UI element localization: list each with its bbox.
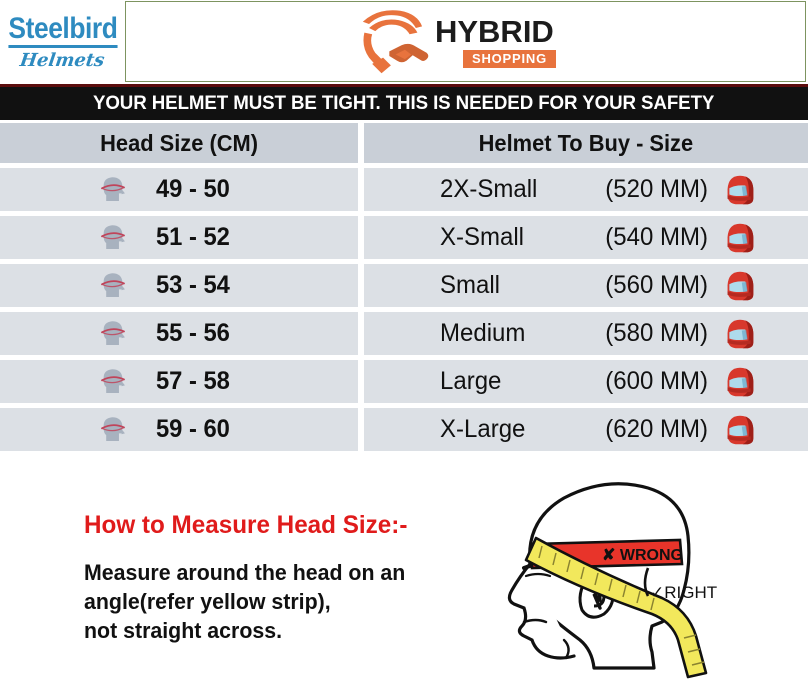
- store-logo-badge: SHOPPING: [463, 50, 556, 68]
- helmet-size-mm: (580 MM): [581, 319, 708, 348]
- svg-text:✓RIGHT: ✓RIGHT: [650, 583, 717, 602]
- table-row: 51 - 52X-Small(540 MM): [0, 216, 808, 259]
- helmet-size-cell: Small(560 MM): [364, 264, 808, 307]
- head-size-cell: 59 - 60: [0, 408, 358, 451]
- head-size-cell: 49 - 50: [0, 168, 358, 211]
- head-size-cell: 55 - 56: [0, 312, 358, 355]
- helmet-icon: [724, 173, 756, 207]
- helmet-size-mm: (600 MM): [581, 367, 708, 396]
- measure-line-2: angle(refer yellow strip),: [84, 587, 472, 616]
- helmet-size-name: X-Large: [440, 415, 571, 444]
- helmet-size-cell: X-Large(620 MM): [364, 408, 808, 451]
- brand-name: Steelbird: [8, 14, 117, 48]
- head-measure-icon: [96, 269, 130, 303]
- head-size-value: 55 - 56: [156, 319, 230, 348]
- helmet-size-cell: X-Small(540 MM): [364, 216, 808, 259]
- head-size-cell: 57 - 58: [0, 360, 358, 403]
- table-body: 49 - 502X-Small(520 MM) 51 - 52X-Small(5…: [0, 168, 808, 451]
- head-measure-icon: [96, 365, 130, 399]
- helmet-size-name: Medium: [440, 319, 571, 348]
- measure-line-1: Measure around the head on an: [84, 558, 472, 587]
- helmet-size-mm: (560 MM): [581, 271, 708, 300]
- helmet-size-cell: 2X-Small(520 MM): [364, 168, 808, 211]
- safety-banner-text: YOUR HELMET MUST BE TIGHT. THIS IS NEEDE…: [93, 92, 714, 115]
- page-header: Steelbird Helmets HYBRID SHOPP: [0, 0, 808, 84]
- brand-tagline: Helmets: [19, 52, 106, 70]
- head-profile-measure-diagram: ✘ WRONG ✓RIGHT: [502, 472, 802, 681]
- helmet-size-mm: (520 MM): [581, 175, 708, 204]
- column-header-helmet-size: Helmet To Buy - Size: [364, 123, 808, 163]
- head-measure-icon: [96, 317, 130, 351]
- head-size-value: 49 - 50: [156, 175, 230, 204]
- how-to-measure-section: How to Measure Head Size:- Measure aroun…: [84, 512, 484, 645]
- size-chart-table: Head Size (CM) Helmet To Buy - Size 49 -…: [0, 123, 808, 456]
- table-row: 49 - 502X-Small(520 MM): [0, 168, 808, 211]
- head-size-value: 57 - 58: [156, 367, 230, 396]
- helmet-size-name: 2X-Small: [440, 175, 571, 204]
- safety-banner: YOUR HELMET MUST BE TIGHT. THIS IS NEEDE…: [0, 84, 808, 120]
- how-to-measure-title: How to Measure Head Size:-: [84, 512, 472, 540]
- how-to-measure-body: Measure around the head on an angle(refe…: [84, 558, 472, 645]
- table-row: 55 - 56Medium(580 MM): [0, 312, 808, 355]
- helmet-icon: [724, 221, 756, 255]
- head-measure-icon: [96, 221, 130, 255]
- helmet-size-name: Large: [440, 367, 571, 396]
- head-measure-icon: [96, 173, 130, 207]
- store-logo-title: HYBRID: [435, 16, 554, 47]
- head-size-value: 51 - 52: [156, 223, 230, 252]
- steelbird-brand-logo: Steelbird Helmets: [0, 0, 125, 84]
- helmet-size-name: Small: [440, 271, 571, 300]
- helmet-size-mm: (620 MM): [581, 415, 708, 444]
- helmet-handshake-icon: [355, 6, 433, 78]
- helmet-size-cell: Large(600 MM): [364, 360, 808, 403]
- head-size-value: 53 - 54: [156, 271, 230, 300]
- svg-text:✘ WRONG: ✘ WRONG: [602, 547, 683, 564]
- helmet-size-name: X-Small: [440, 223, 571, 252]
- helmet-size-mm: (540 MM): [581, 223, 708, 252]
- helmet-icon: [724, 317, 756, 351]
- helmet-icon: [724, 365, 756, 399]
- helmet-icon: [724, 413, 756, 447]
- column-header-head-size: Head Size (CM): [0, 123, 358, 163]
- table-row: 59 - 60X-Large(620 MM): [0, 408, 808, 451]
- table-header-row: Head Size (CM) Helmet To Buy - Size: [0, 123, 808, 163]
- head-size-cell: 51 - 52: [0, 216, 358, 259]
- head-measure-icon: [96, 413, 130, 447]
- measure-line-3: not straight across.: [84, 616, 472, 645]
- table-row: 57 - 58Large(600 MM): [0, 360, 808, 403]
- table-row: 53 - 54Small(560 MM): [0, 264, 808, 307]
- head-size-cell: 53 - 54: [0, 264, 358, 307]
- head-size-value: 59 - 60: [156, 415, 230, 444]
- helmet-size-cell: Medium(580 MM): [364, 312, 808, 355]
- helmet-icon: [724, 269, 756, 303]
- store-logo-box: HYBRID SHOPPING: [125, 1, 806, 82]
